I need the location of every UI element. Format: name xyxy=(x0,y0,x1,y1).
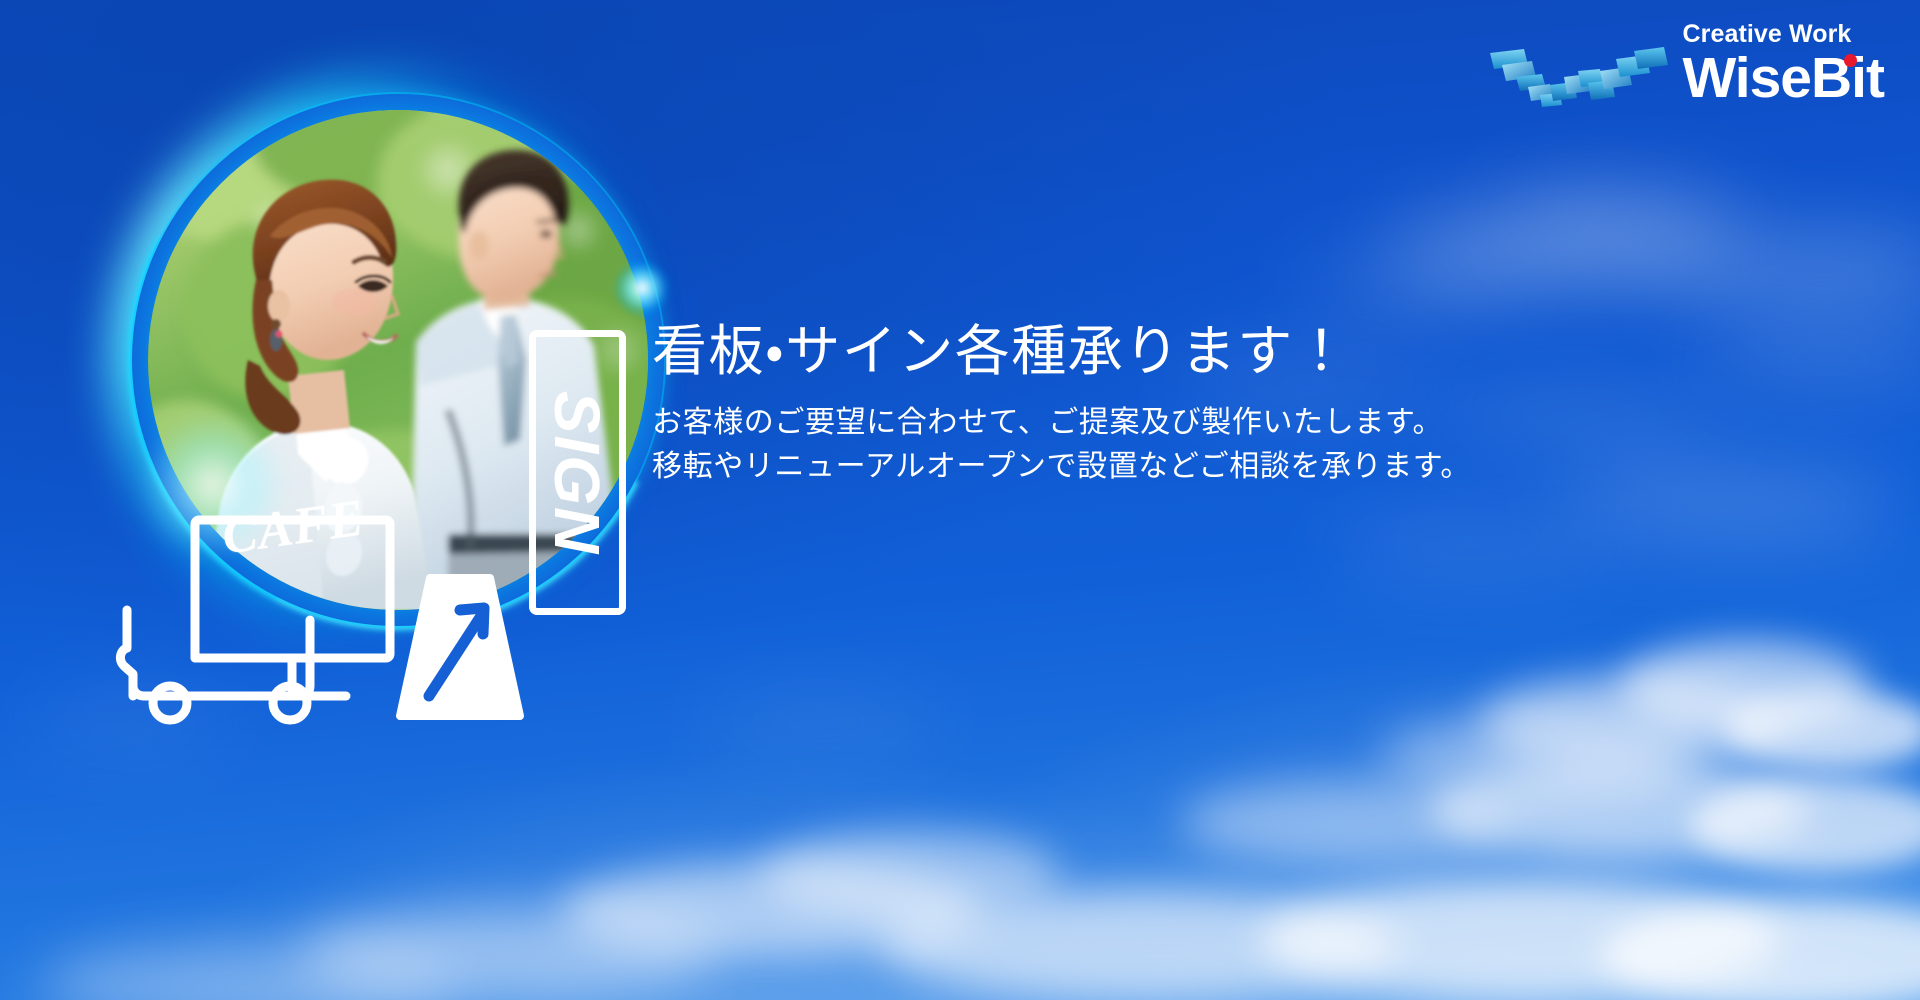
brand-name: WiseBit xyxy=(1682,50,1884,107)
wisebit-wave-mark xyxy=(1488,41,1668,107)
brand-accent-dot xyxy=(1844,54,1857,67)
lens-flare-dot xyxy=(614,260,670,316)
hero-text-block: 看板・サイン各種承ります！ お客様のご要望に合わせて、ご提案及び製作いたします。… xyxy=(652,318,1471,488)
truck-wheel-front xyxy=(153,686,187,720)
logo-wordmark: Creative Work WiseBit xyxy=(1682,22,1884,107)
hero-sublines: お客様のご要望に合わせて、ご提案及び製作いたします。 移転やリニューアルオープン… xyxy=(652,401,1471,488)
sign-icon-group: CAFE xyxy=(100,470,560,730)
brand-tagline: Creative Work xyxy=(1682,22,1851,47)
truck-body-path xyxy=(120,610,310,696)
hero-banner: Creative Work WiseBit xyxy=(0,0,1920,1000)
brand-logo[interactable]: Creative Work WiseBit xyxy=(1488,22,1884,107)
hero-headline: 看板・サイン各種承ります！ xyxy=(652,318,1471,385)
hero-subline-1: お客様のご要望に合わせて、ご提案及び製作いたします。 xyxy=(652,401,1471,445)
hero-subline-2: 移転やリニューアルオープンで設置などご相談を承ります。 xyxy=(652,445,1471,489)
